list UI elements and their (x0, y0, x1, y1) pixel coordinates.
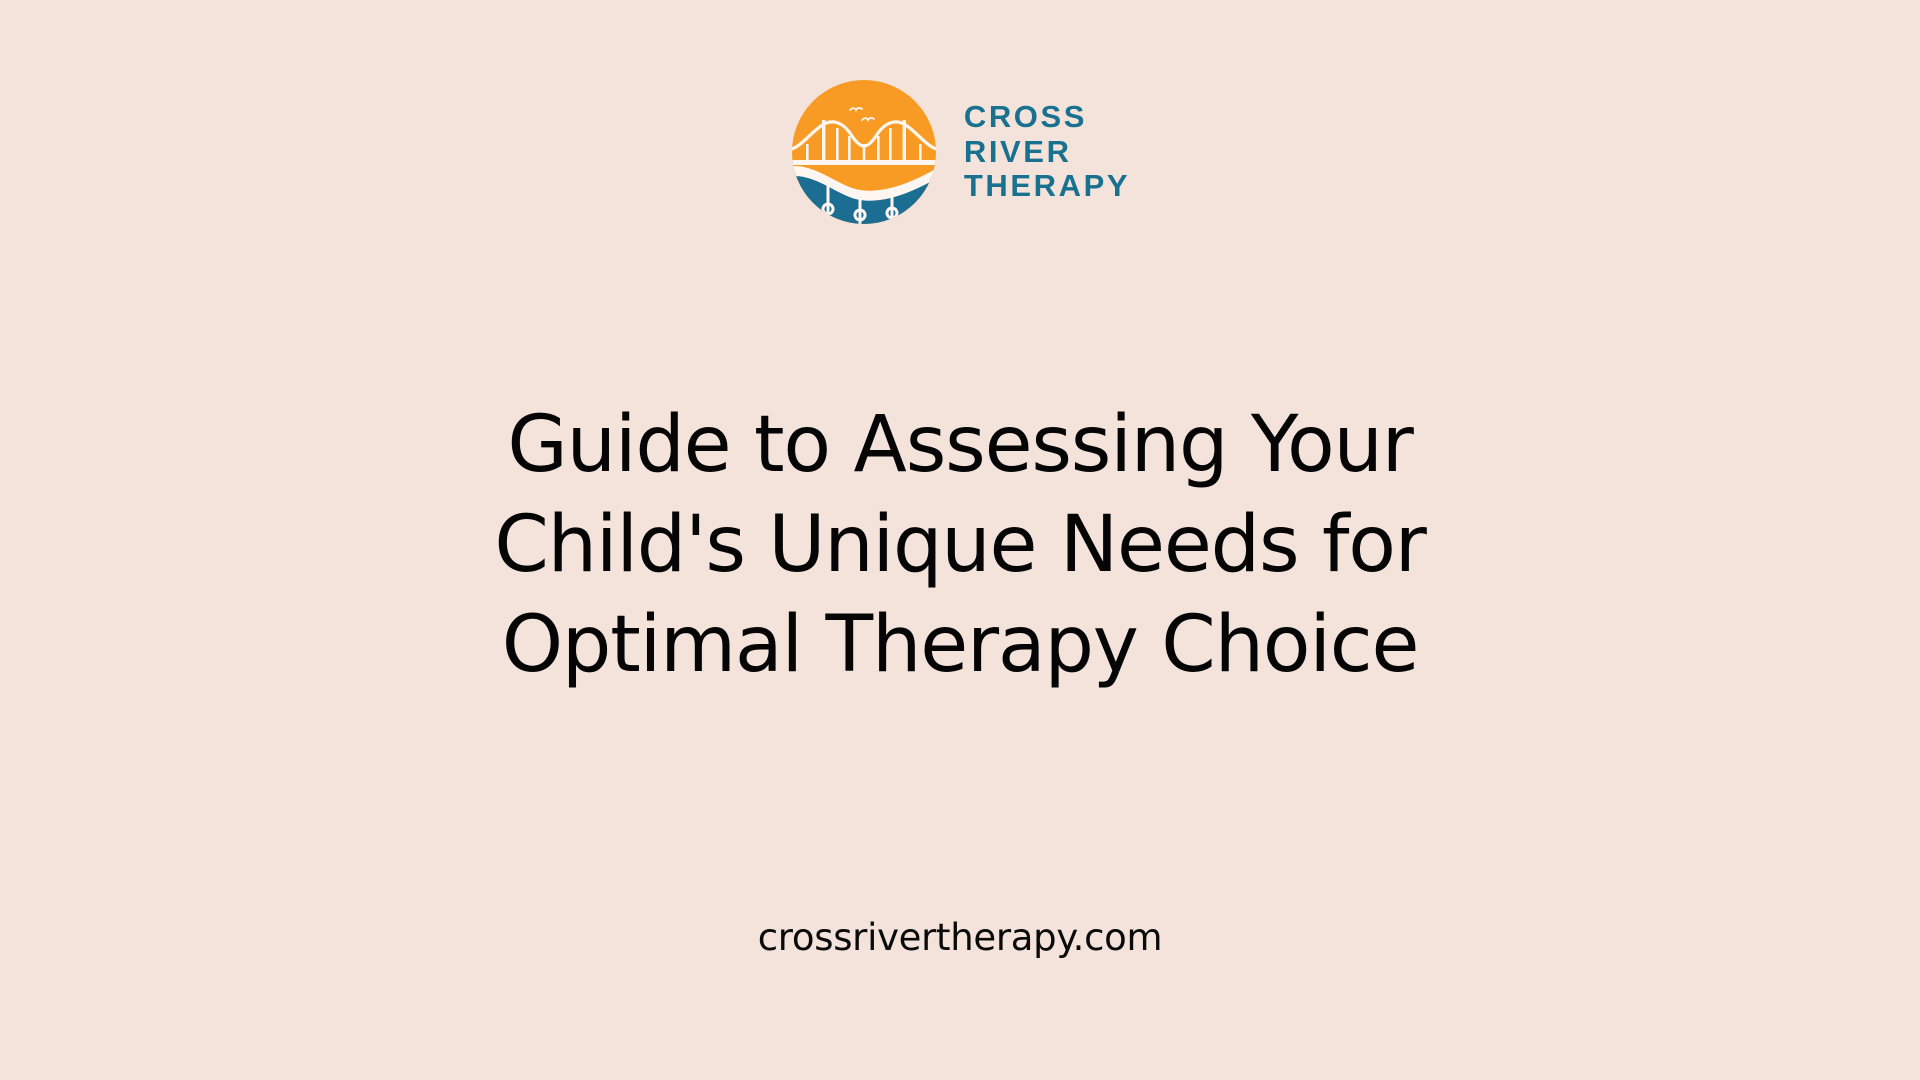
bridge-hanger-icon (836, 128, 839, 164)
title-line-1: Guide to Assessing Your (0, 395, 1920, 495)
bridge-hanger-icon (889, 128, 892, 164)
bridge-hanger-icon (919, 144, 922, 164)
bridge-tower-right-icon (902, 120, 905, 164)
title-line-3: Optimal Therapy Choice (0, 595, 1920, 695)
bridge-hanger-icon (863, 144, 866, 164)
page-title: Guide to Assessing Your Child's Unique N… (0, 395, 1920, 695)
wordmark-line-cross: CROSS (964, 100, 1130, 135)
cross-river-therapy-bridge-logo (790, 78, 938, 226)
title-line-2: Child's Unique Needs for (0, 495, 1920, 595)
logo-wordmark: CROSS RIVER THERAPY (964, 100, 1130, 204)
bridge-hanger-icon (806, 144, 809, 164)
bridge-tower-left-icon (822, 120, 825, 164)
logo-block: CROSS RIVER THERAPY (0, 78, 1920, 226)
bridge-hanger-icon (848, 136, 851, 164)
bridge-hanger-icon (877, 136, 880, 164)
wordmark-line-therapy: THERAPY (964, 169, 1130, 204)
footer-block: crossrivertherapy.com (0, 916, 1920, 959)
website-url: crossrivertherapy.com (758, 916, 1163, 959)
wordmark-line-river: RIVER (964, 135, 1130, 170)
